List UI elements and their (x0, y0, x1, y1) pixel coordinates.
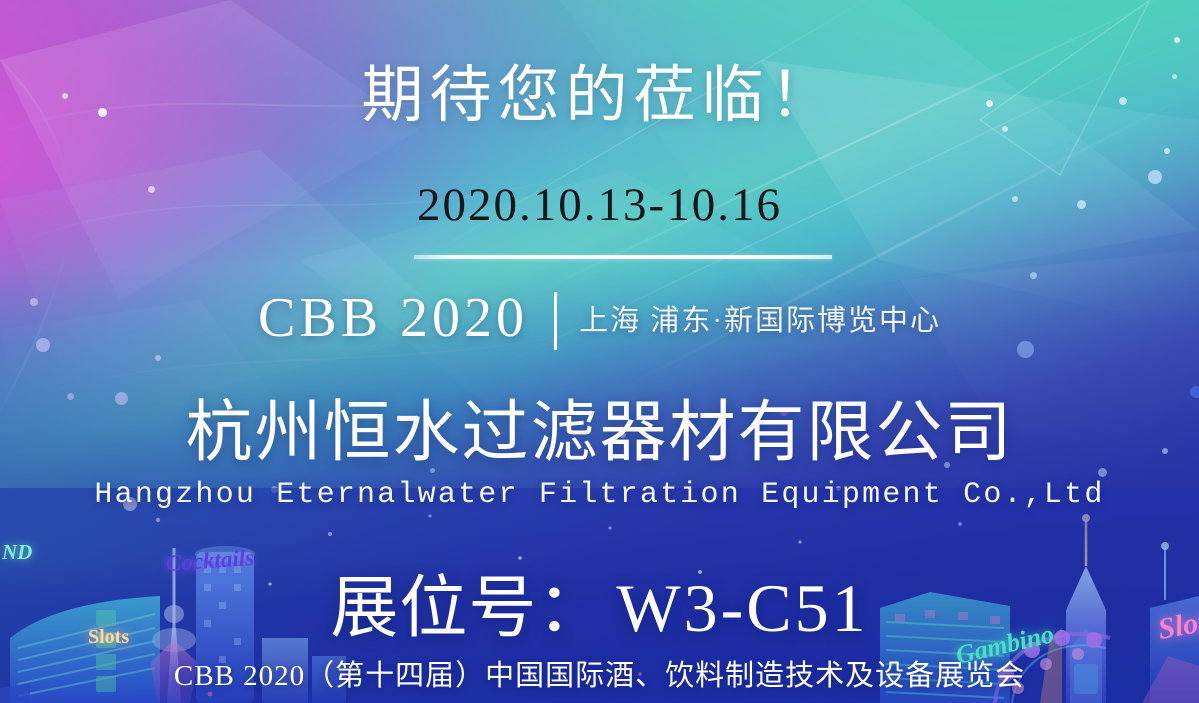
event-venue: 上海 浦东·新国际博览中心 (579, 297, 941, 339)
exhibition-banner: ND Cocktails Slots Gambino Slots 期待您的莅临！… (0, 0, 1199, 703)
vertical-divider (554, 292, 557, 350)
company-name-english: Hangzhou Eternalwater Filtration Equipme… (0, 478, 1199, 512)
headline-welcome: 期待您的莅临！ (0, 44, 1199, 134)
exhibition-full-name: CBB 2020（第十四届）中国国际酒、饮料制造技术及设备展览会 (0, 652, 1199, 694)
divider-rule (414, 255, 832, 259)
banner-content: 期待您的莅临！ 2020.10.13-10.16 CBB 2020 上海 浦东·… (0, 0, 1199, 703)
event-name: CBB 2020 (258, 286, 528, 350)
booth-code: W3-C51 (616, 570, 868, 646)
booth-label: 展位号： (330, 570, 606, 646)
booth-number-row: 展位号：W3-C51 (0, 552, 1199, 651)
company-name-chinese: 杭州恒水过滤器材有限公司 (0, 378, 1199, 475)
event-date: 2020.10.13-10.16 (417, 179, 782, 231)
event-date-row: 2020.10.13-10.16 (0, 178, 1199, 232)
event-title-row: CBB 2020 上海 浦东·新国际博览中心 (0, 286, 1199, 350)
